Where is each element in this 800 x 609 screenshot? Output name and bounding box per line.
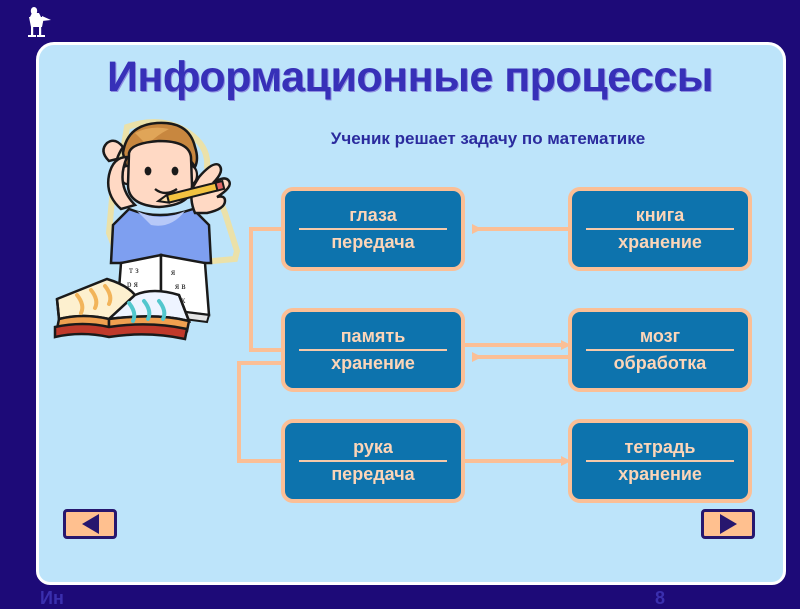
node-kniga[interactable]: книга хранение — [568, 187, 752, 271]
node-tetrad-process: хранение — [586, 462, 734, 484]
node-pamyat-process: хранение — [299, 351, 447, 373]
subtitle: Ученик решает задачу по математике — [263, 129, 713, 149]
slide: Информационные процессы Ученик решает за… — [0, 0, 800, 600]
footer-left-text: Ин — [40, 588, 64, 609]
content-panel: Информационные процессы Ученик решает за… — [36, 42, 786, 585]
connector-pamyat-to-ruka — [239, 363, 281, 461]
node-mozg-title: мозг — [586, 327, 734, 351]
svg-text:я: я — [171, 267, 175, 277]
node-pamyat[interactable]: память хранение — [281, 308, 465, 392]
node-kniga-process: хранение — [586, 230, 734, 252]
page-title: Информационные процессы — [47, 53, 773, 102]
bird-emblem-icon — [20, 4, 54, 40]
node-pamyat-title: память — [299, 327, 447, 351]
node-mozg-process: обработка — [586, 351, 734, 373]
boy-reading-book-illustration: т з я р я я в я ж — [49, 113, 279, 343]
previous-slide-button[interactable] — [63, 509, 117, 539]
node-tetrad-title: тетрадь — [586, 438, 734, 462]
footer-right-text: 8 — [655, 588, 665, 609]
svg-text:т з: т з — [129, 265, 139, 275]
next-slide-button[interactable] — [701, 509, 755, 539]
triangle-left-icon — [82, 514, 99, 534]
node-glaza-title: глаза — [299, 206, 447, 230]
triangle-right-icon — [720, 514, 737, 534]
node-ruka-title: рука — [299, 438, 447, 462]
node-ruka[interactable]: рука передача — [281, 419, 465, 503]
node-ruka-process: передача — [299, 462, 447, 484]
svg-text:я в: я в — [175, 281, 186, 291]
node-glaza[interactable]: глаза передача — [281, 187, 465, 271]
node-glaza-process: передача — [299, 230, 447, 252]
node-mozg[interactable]: мозг обработка — [568, 308, 752, 392]
node-kniga-title: книга — [586, 206, 734, 230]
node-tetrad[interactable]: тетрадь хранение — [568, 419, 752, 503]
